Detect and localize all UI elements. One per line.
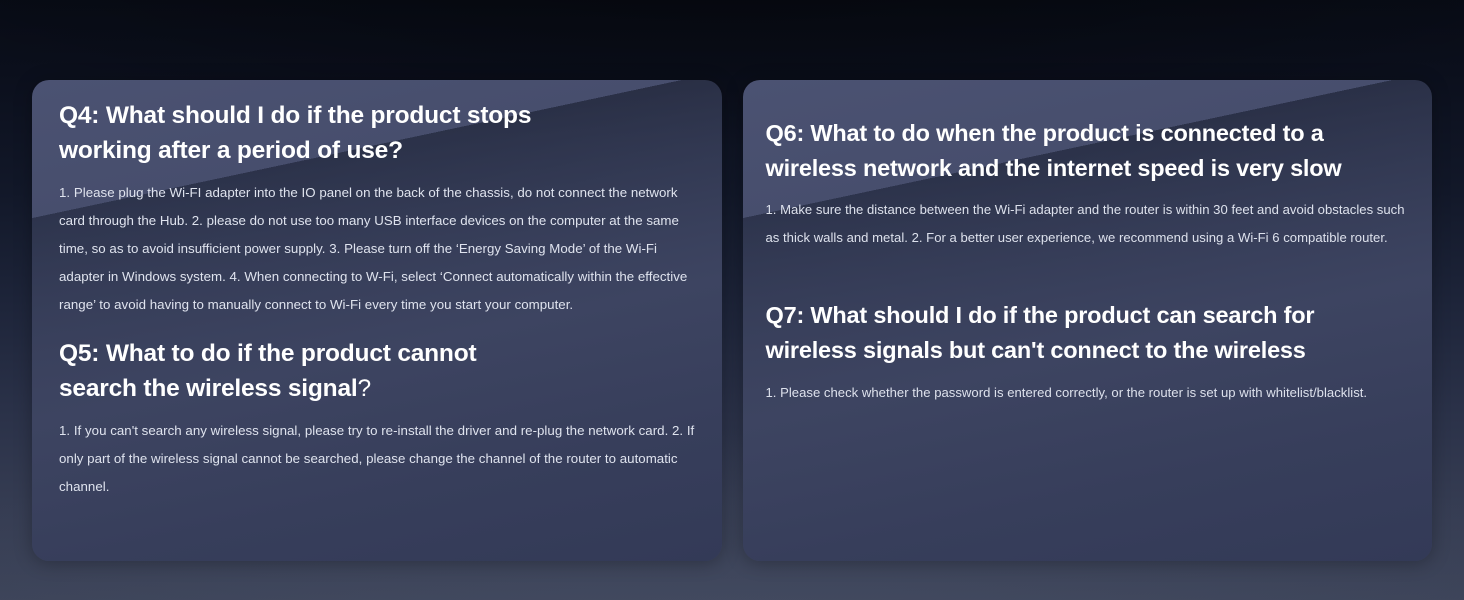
faq-question-title-q7: Q7: What should I do if the product can …	[766, 298, 1409, 368]
faq-answer-body-q7: 1. Please check whether the password is …	[766, 379, 1409, 407]
faq-question-title-q5: Q5: What to do if the product cannot sea…	[59, 336, 700, 406]
faq-question-title-q5-qmark: ?	[357, 375, 370, 402]
faq-question-title-q4: Q4: What should I do if the product stop…	[59, 98, 700, 168]
spacer	[59, 168, 700, 179]
spacer	[59, 319, 700, 336]
faq-answer-body-q4: 1. Please plug the Wi-FI adapter into th…	[59, 179, 700, 319]
faq-question-title-q5-line2: search the wireless signal	[59, 375, 357, 402]
faq-answer-body-q6: 1. Make sure the distance between the Wi…	[766, 196, 1409, 252]
faq-item-q4: Q4: What should I do if the product stop…	[59, 98, 700, 319]
faq-card-group: Q4: What should I do if the product stop…	[32, 80, 1432, 561]
faq-card-right: Q6: What to do when the product is conne…	[743, 80, 1433, 561]
spacer	[766, 186, 1409, 196]
faq-question-title-q5-line1: Q5: What to do if the product cannot	[59, 340, 476, 367]
spacer	[766, 252, 1409, 298]
faq-question-title-q6-line1: Q6: What to do when the product is conne…	[766, 120, 1324, 146]
faq-card-right-content: Q6: What to do when the product is conne…	[743, 80, 1433, 561]
faq-question-title-q4-line2: working after a period of use?	[59, 137, 403, 164]
spacer	[766, 368, 1409, 379]
faq-question-title-q7-line1: Q7: What should I do if the product can …	[766, 302, 1315, 328]
faq-question-title-q6-line2: wireless network and the internet speed …	[766, 155, 1342, 181]
faq-item-q7: Q7: What should I do if the product can …	[766, 298, 1409, 407]
faq-card-left-content: Q4: What should I do if the product stop…	[32, 80, 722, 561]
faq-question-title-q7-line2: wireless signals but can't connect to th…	[766, 337, 1306, 363]
faq-page: Q4: What should I do if the product stop…	[0, 0, 1464, 600]
faq-item-q6: Q6: What to do when the product is conne…	[766, 116, 1409, 252]
faq-answer-body-q5: 1. If you can't search any wireless sign…	[59, 417, 700, 501]
spacer	[59, 406, 700, 417]
faq-item-q5: Q5: What to do if the product cannot sea…	[59, 336, 700, 501]
faq-card-left: Q4: What should I do if the product stop…	[32, 80, 722, 561]
faq-question-title-q4-line1: Q4: What should I do if the product stop…	[59, 102, 531, 129]
faq-question-title-q6: Q6: What to do when the product is conne…	[766, 116, 1409, 186]
